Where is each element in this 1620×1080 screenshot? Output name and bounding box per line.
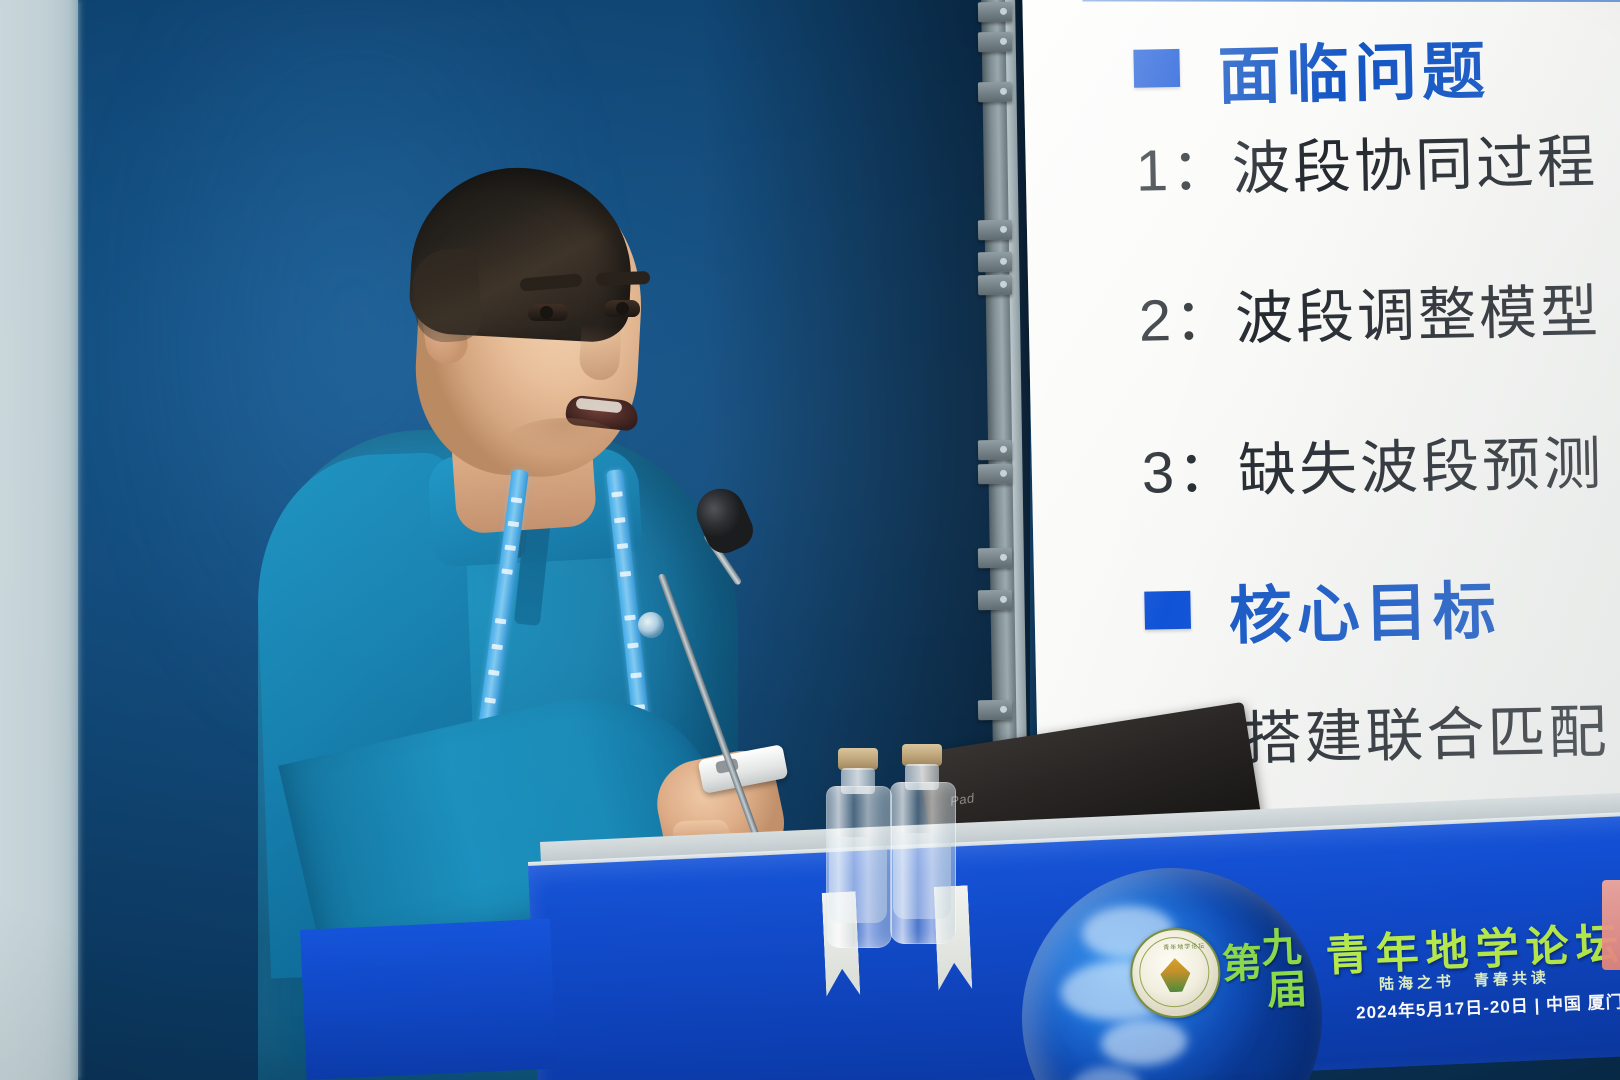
slide-content: 面临问题 1：波段协同过程 2：波段调整模型 3：缺失波段预测 核心目标 1：搭… [1075,0,1620,837]
speaker-nose [578,325,622,382]
speaker-hair-sideburn [411,248,483,344]
conference-lockup: 青年地学论坛 第 九 届 青年地学论坛 陆海之书 青春共读 2024年5月17日… [1128,897,1620,1038]
podium-left-panel [300,919,557,1080]
slide-heading-core-goals: 核心目标 [1228,561,1502,657]
speaker-eye-right [604,300,640,317]
slide-item-problem-3: 3：缺失波段预测 [1141,416,1605,509]
slide-heading-problems: 面临问题 [1217,21,1491,117]
conference-emblem-icon: 青年地学论坛 [1129,926,1223,1020]
blue-square-bullet-icon [1133,49,1180,88]
water-bottle-left [826,786,892,948]
water-bottle-right [890,782,956,944]
speaker-eyebrow-right [596,271,650,286]
bottle-cap-right [902,744,942,766]
conference-ordinal-suffix: 届 [1266,957,1308,1017]
presentation-photo: 面临问题 1：波段协同过程 2：波段调整模型 3：缺失波段预测 核心目标 1：搭… [0,0,1620,1080]
blue-square-bullet-icon-2 [1144,591,1191,630]
slide-item-problem-2: 2：波段调整模型 [1138,264,1602,357]
speaker-eye-left [528,304,568,321]
bottle-cap-left [838,748,878,770]
slide-item-problem-1: 1：波段协同过程 [1135,114,1599,207]
emblem-arc-text: 青年地学论坛 [1163,941,1205,952]
conference-ordinal-prefix: 第 [1221,930,1263,990]
right-edge-object [1602,880,1620,970]
